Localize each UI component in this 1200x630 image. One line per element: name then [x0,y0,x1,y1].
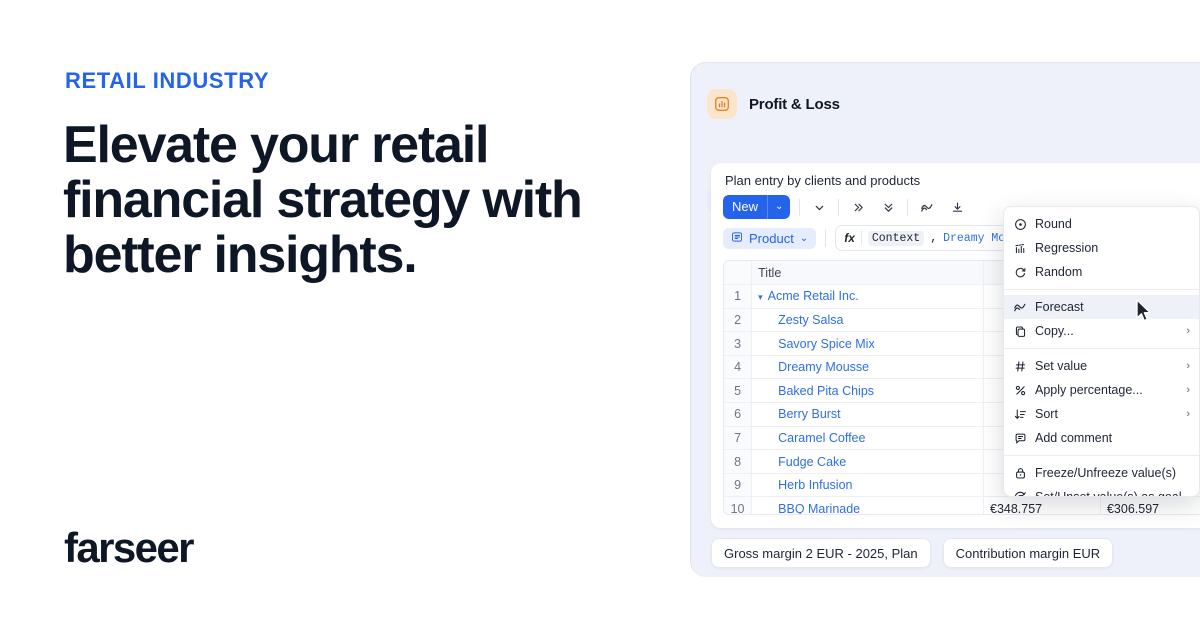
menu-item-freeze-value[interactable]: Freeze/Unfreeze value(s) [1004,461,1199,485]
comment-icon [1013,431,1027,445]
forecast-icon[interactable] [917,197,937,217]
bottom-tab-bar: Gross margin 2 EUR - 2025, Plan Contribu… [711,538,1113,568]
download-icon[interactable] [947,197,967,217]
new-button-label: New [723,195,767,219]
menu-item-label: Add comment [1035,431,1190,445]
copy-icon [1013,324,1027,338]
menu-divider [1004,455,1199,456]
row-title[interactable]: Dreamy Mousse [752,355,984,379]
menu-item-label: Regression [1035,241,1190,255]
chevron-down-icon: ⌄ [768,195,790,219]
menu-item-label: Forecast [1035,300,1190,314]
row-number: 2 [724,308,752,332]
target-icon [1013,217,1027,231]
row-title-link[interactable]: Fudge Cake [778,455,846,469]
chevrons-down-icon[interactable] [878,197,898,217]
menu-divider [1004,348,1199,349]
chevron-down-icon[interactable]: ▾ [758,292,763,302]
chevron-down-icon: ⌄ [800,233,808,244]
menu-item-add-comment[interactable]: Add comment [1004,426,1199,450]
row-title-link[interactable]: Savory Spice Mix [778,337,875,351]
row-number: 9 [724,473,752,497]
formula-token-context: Context [868,231,924,246]
row-title-link[interactable]: Acme Retail Inc. [768,289,859,303]
eyebrow-label: RETAIL INDUSTRY [65,68,269,94]
row-title-link[interactable]: Baked Pita Chips [778,384,874,398]
row-number: 8 [724,450,752,474]
menu-item-label: Copy... [1035,324,1178,338]
bar-chart-icon [707,89,737,119]
divider [861,231,862,245]
tab-gross-margin[interactable]: Gross margin 2 EUR - 2025, Plan [711,538,931,568]
menu-divider [1004,289,1199,290]
formula-comma: , [930,232,937,245]
column-header-rownum [724,261,752,285]
row-number: 4 [724,355,752,379]
goal-icon [1013,490,1027,497]
menu-item-label: Freeze/Unfreeze value(s) [1035,466,1190,480]
row-title-link[interactable]: Herb Infusion [778,478,852,492]
menu-item-label: Apply percentage... [1035,383,1178,397]
row-title-link[interactable]: BBQ Marinade [778,502,860,515]
menu-item-set-value[interactable]: Set value › [1004,354,1199,378]
row-title[interactable]: Fudge Cake [752,450,984,474]
menu-item-regression[interactable]: Regression [1004,236,1199,260]
page-root: RETAIL INDUSTRY Elevate your retail fina… [0,0,1200,630]
chevron-right-icon: › [1186,384,1190,396]
page-title: Elevate your retail financial strategy w… [63,118,663,283]
forecast-icon [1013,300,1027,314]
divider [907,199,908,216]
row-title-link[interactable]: Berry Burst [778,407,841,421]
row-title[interactable]: Baked Pita Chips [752,379,984,403]
row-title[interactable]: ▾Acme Retail Inc. [752,285,984,309]
row-number: 7 [724,426,752,450]
menu-item-apply-percentage[interactable]: Apply percentage... › [1004,378,1199,402]
row-title-link[interactable]: Dreamy Mousse [778,360,869,374]
row-title[interactable]: Caramel Coffee [752,426,984,450]
row-title-link[interactable]: Zesty Salsa [778,313,843,327]
menu-item-label: Sort [1035,407,1178,421]
menu-item-round[interactable]: Round [1004,212,1199,236]
row-title[interactable]: Zesty Salsa [752,308,984,332]
divider [799,199,800,216]
lock-icon [1013,466,1027,480]
menu-item-sort[interactable]: Sort › [1004,402,1199,426]
menu-item-label: Random [1035,265,1190,279]
row-title[interactable]: Herb Infusion [752,473,984,497]
chevrons-right-icon[interactable] [848,197,868,217]
context-menu[interactable]: Round Regression Random Forecast Copy [1003,206,1200,497]
fx-icon: fx [844,231,855,245]
chevron-right-icon: › [1186,360,1190,372]
row-number: 10 [724,497,752,515]
table-row[interactable]: 10 BBQ Marinade €348.757 €306.597 [724,497,1200,515]
worksheet-toolbar: New ⌄ [723,195,967,219]
menu-item-label: Set value [1035,359,1178,373]
brand-logo: farseer [64,524,193,572]
row-number: 6 [724,403,752,427]
row-value-1[interactable]: €348.757 [984,497,1101,515]
refresh-icon [1013,265,1027,279]
chevron-right-icon: › [1186,408,1190,420]
new-button[interactable]: New ⌄ [723,195,790,219]
sort-icon [1013,407,1027,421]
menu-item-copy[interactable]: Copy... › [1004,319,1199,343]
tab-label: Contribution margin EUR [956,546,1101,561]
hash-icon [1013,359,1027,373]
table-icon [731,231,743,246]
regression-icon [1013,241,1027,255]
row-value-2[interactable]: €306.597 [1100,497,1200,515]
menu-item-set-goal[interactable]: Set/Unset value(s) as goal [1004,485,1199,497]
mouse-pointer-icon [1135,299,1154,329]
marketing-panel: RETAIL INDUSTRY Elevate your retail fina… [0,0,680,630]
dimension-chip-product[interactable]: Product ⌄ [723,228,816,249]
divider [825,230,826,247]
percent-icon [1013,383,1027,397]
menu-item-label: Set/Unset value(s) as goal [1035,490,1190,497]
row-number: 5 [724,379,752,403]
row-title[interactable]: BBQ Marinade [752,497,984,515]
chevron-right-icon: › [1186,325,1190,337]
row-number: 3 [724,332,752,356]
menu-item-label: Round [1035,217,1190,231]
menu-item-random[interactable]: Random [1004,260,1199,284]
row-title[interactable]: Savory Spice Mix [752,332,984,356]
row-title[interactable]: Berry Burst [752,403,984,427]
worksheet-title: Plan entry by clients and products [725,173,920,188]
tab-label: Gross margin 2 EUR - 2025, Plan [724,546,918,561]
menu-item-forecast[interactable]: Forecast [1004,295,1199,319]
chevron-down-icon[interactable] [809,197,829,217]
row-title-link[interactable]: Caramel Coffee [778,431,865,445]
tab-contribution-margin[interactable]: Contribution margin EUR [943,538,1114,568]
column-header-title: Title [752,261,984,285]
app-header: Profit & Loss [707,89,840,119]
app-title: Profit & Loss [749,96,840,113]
dimension-chip-label: Product [749,231,794,246]
divider [838,199,839,216]
row-number: 1 [724,285,752,309]
